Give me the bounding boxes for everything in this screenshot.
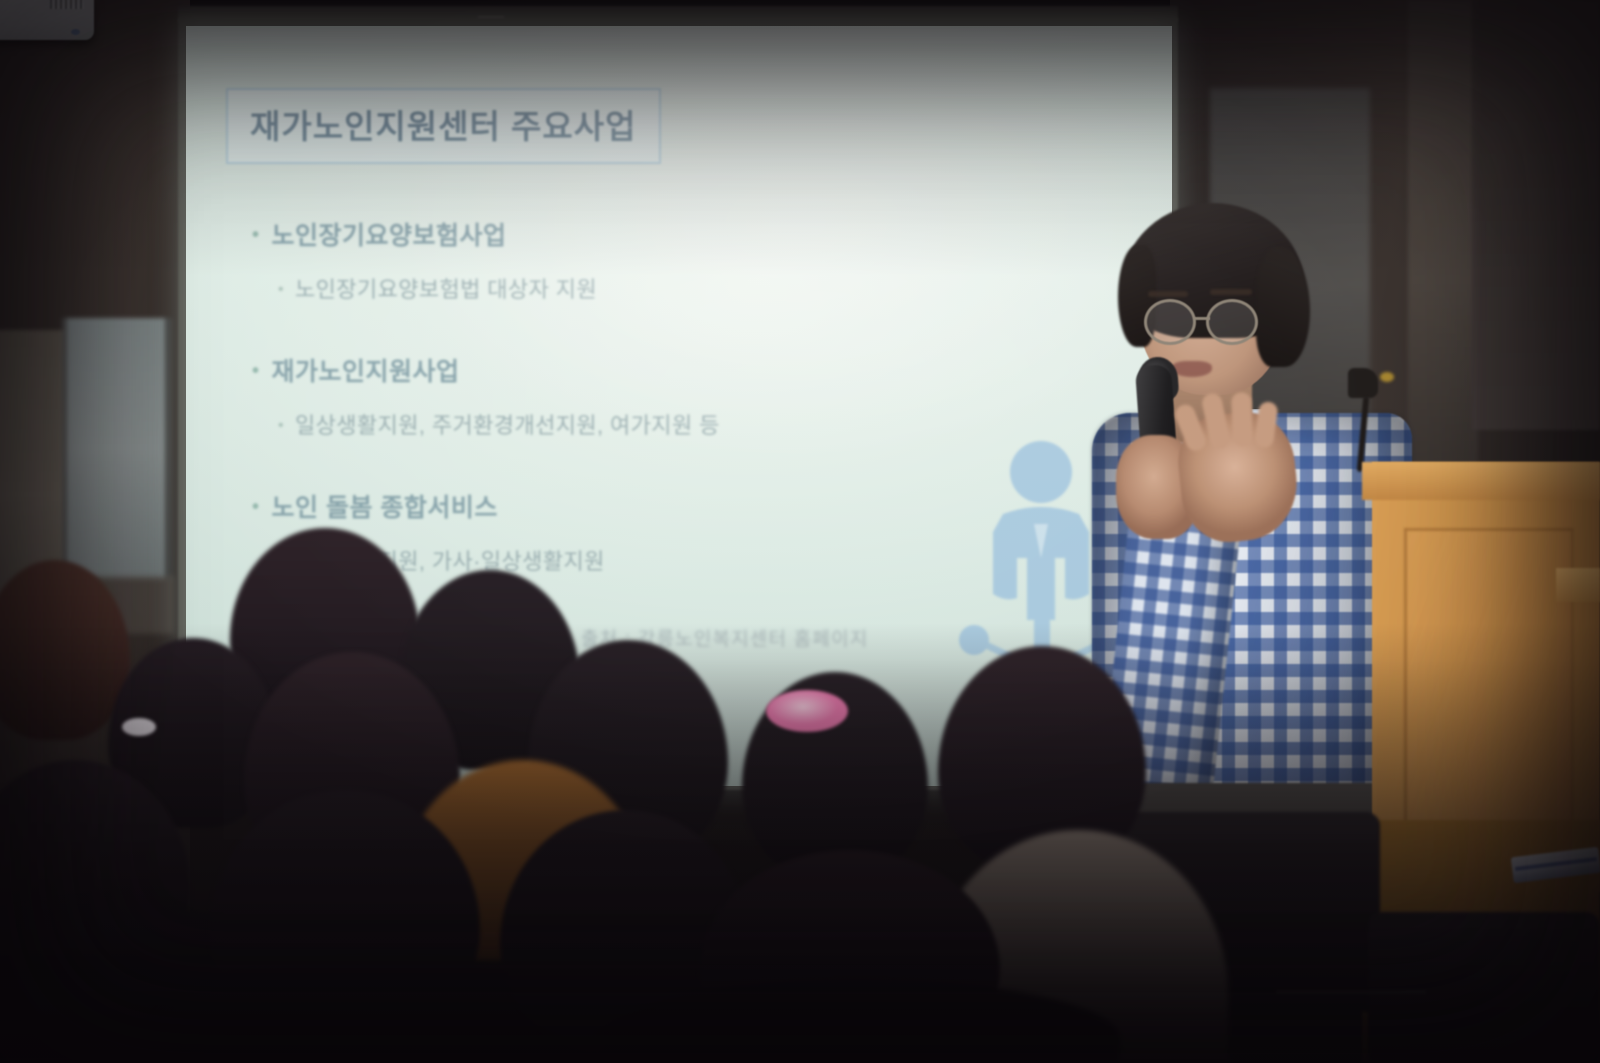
wall-light-spot	[1380, 372, 1394, 382]
presenter-hair-right	[1256, 247, 1310, 367]
slide-heading: 노인 돌봄 종합서비스	[252, 488, 605, 524]
slide-heading: 재가노인지원사업	[252, 352, 720, 388]
lecture-hall-photo: 재가노인지원센터 주요사업 노인장기요양보험사업 노인장기요양보험법 대상자 지…	[0, 0, 1600, 1063]
slide-heading: 노인장기요양보험사업	[252, 216, 597, 252]
seat-rail	[1276, 990, 1426, 994]
lectern-top	[1362, 462, 1600, 500]
projector-lens-icon	[71, 29, 80, 35]
slide-section-1: 노인장기요양보험사업 노인장기요양보험법 대상자 지원	[252, 216, 597, 304]
presenter-eyebrow-left	[1148, 291, 1188, 297]
wall-column-right	[1472, 0, 1600, 430]
lectern-ledge	[1556, 568, 1600, 602]
presenter-eyebrow-right	[1210, 289, 1252, 295]
seat	[1368, 912, 1600, 1063]
pink-hair-accessory	[766, 690, 848, 732]
presenter-mouth	[1172, 361, 1212, 377]
slide-subitem: 노인장기요양보험법 대상자 지원	[278, 272, 597, 304]
hair-accessory	[122, 718, 156, 736]
finger	[1231, 392, 1253, 447]
wall-bracket	[1348, 368, 1378, 398]
wall-left-window	[62, 318, 172, 580]
eyeglasses-lens-right-icon	[1206, 299, 1258, 345]
slide-title: 재가노인지원센터 주요사업	[250, 100, 637, 148]
slide-section-2: 재가노인지원사업 일상생활지원, 주거환경개선지원, 여가지원 등	[252, 352, 720, 440]
projector-vent	[50, 0, 84, 9]
lectern-panel	[1404, 528, 1574, 868]
slide-title-box: 재가노인지원센터 주요사업	[226, 88, 661, 164]
eyeglasses-lens-left-icon	[1144, 299, 1196, 345]
eyeglasses-bridge-icon	[1194, 317, 1210, 320]
finger	[1254, 401, 1279, 449]
ceiling-projector	[0, 0, 94, 40]
slide-subitem: 일상생활지원, 주거환경개선지원, 여가지원 등	[278, 408, 720, 440]
